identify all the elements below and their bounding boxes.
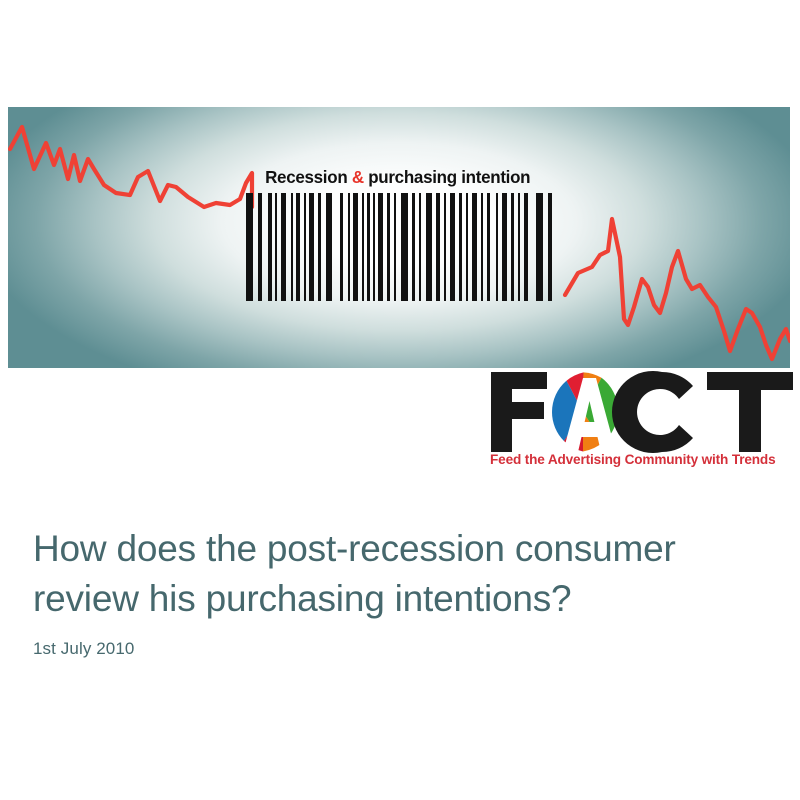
presentation-date: 1st July 2010 [33,638,753,660]
barcode-graphic: Recession & purchasing intention [238,161,562,301]
line-chart-right-series [565,219,790,359]
fact-logo-mark [489,368,795,454]
headline-block: How does the post-recession consumer rev… [33,524,753,660]
fact-logo: Feed the Advertising Community with Tren… [489,368,795,480]
page-title: How does the post-recession consumer rev… [33,524,753,624]
page-title-line-1: How does the post-recession consumer [33,524,753,574]
fact-logo-tagline: Feed the Advertising Community with Tren… [490,452,794,467]
logo-letter-t [707,372,793,452]
logo-letter-c [612,371,693,453]
logo-letter-f [491,372,547,452]
barcode-title: Recession & purchasing intention [258,163,537,191]
logo-letter-a-colorwheel [552,372,618,452]
slide-root: Recession & purchasing intention [0,0,800,800]
hero-banner-image: Recession & purchasing intention [8,107,790,368]
barcode-title-rest: purchasing intention [368,167,530,187]
barcode-bars [238,193,562,301]
barcode-title-ampersand: & [352,167,364,187]
page-title-line-2: review his purchasing intentions? [33,574,753,624]
line-chart-left-series [10,127,252,207]
barcode-title-main: Recession [265,167,347,187]
